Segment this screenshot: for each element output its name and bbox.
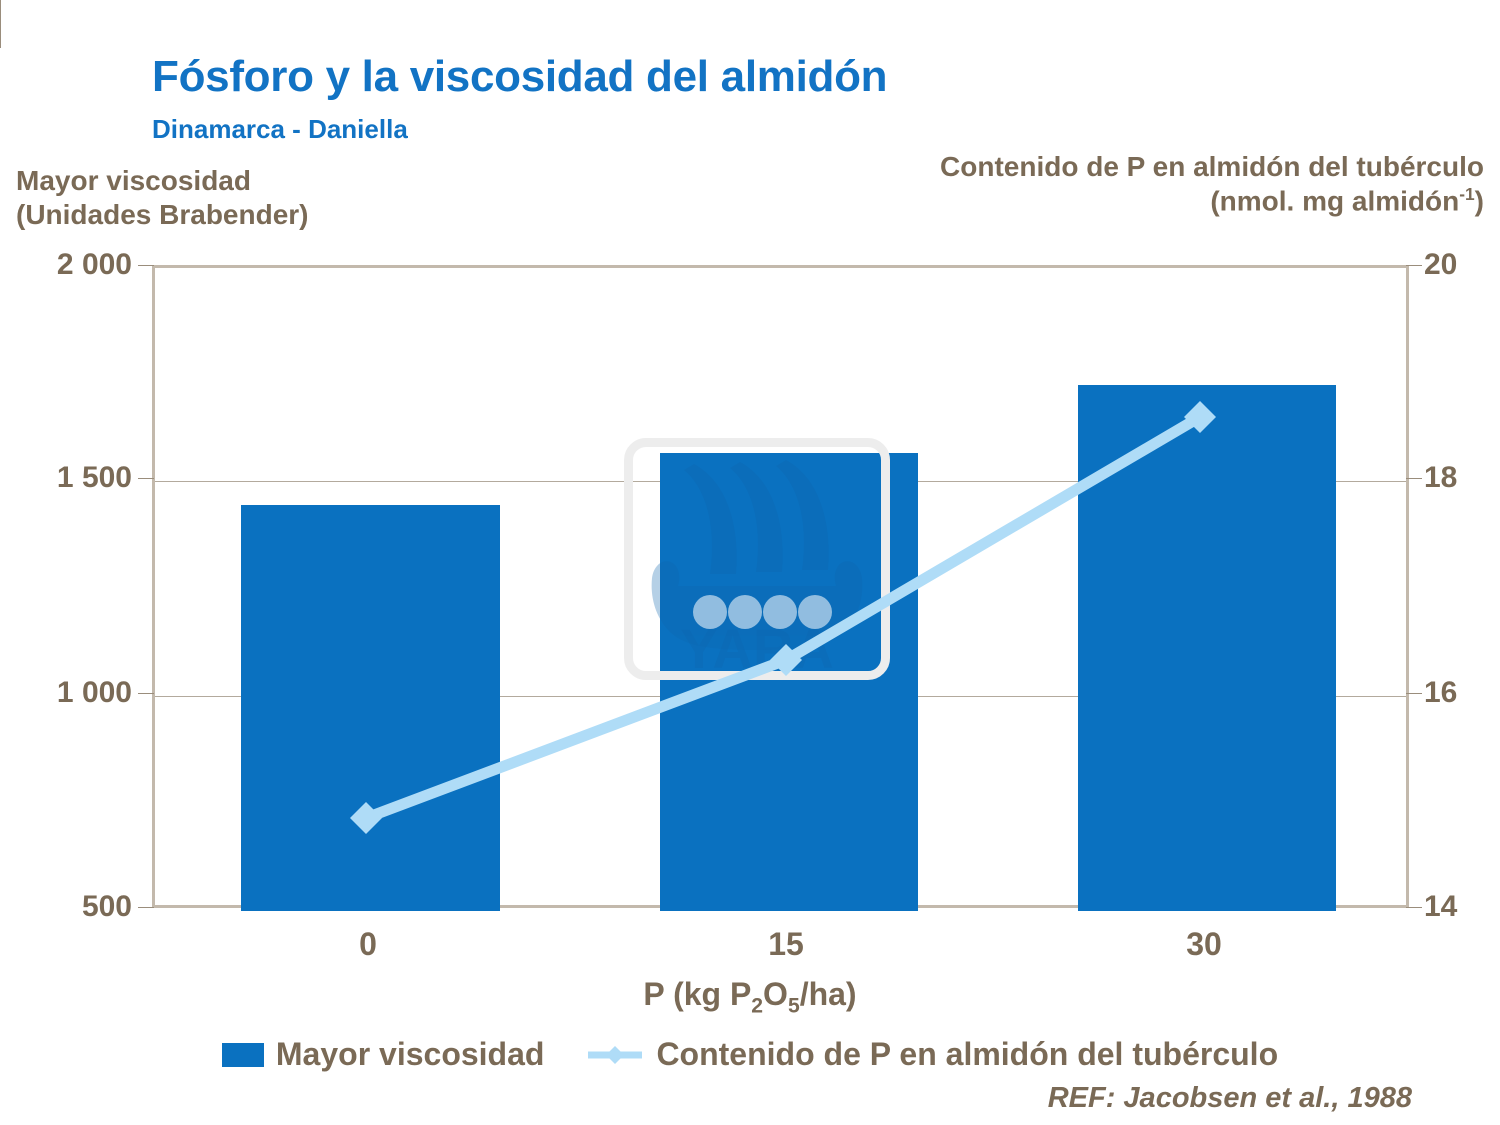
legend-label-line: Contenido de P en almidón del tubérculo <box>656 1036 1278 1073</box>
bar-15[interactable] <box>660 453 918 911</box>
ytick-left-500: 500 <box>82 892 132 922</box>
chart-figure: Fósforo y la viscosidad del almidón Dina… <box>0 0 1500 1125</box>
xtick-15: 15 <box>768 926 804 963</box>
x-axis-title-part1: P (kg P <box>643 976 751 1012</box>
x-axis-title-sub1: 2 <box>751 994 763 1017</box>
bar-0[interactable] <box>241 505 500 911</box>
reference-note: REF: Jacobsen et al., 1988 <box>1048 1082 1412 1115</box>
right-axis-units-prefix: (nmol. mg almidón <box>1210 185 1459 216</box>
right-axis-units-exponent: -1 <box>1459 184 1474 204</box>
bar-30[interactable] <box>1078 385 1336 911</box>
x-axis-title-part3: /ha) <box>800 976 857 1012</box>
ytick-right-16: 16 <box>1424 678 1457 708</box>
chart-legend: Mayor viscosidad Contenido de P en almid… <box>0 1036 1500 1073</box>
legend-item-bar[interactable]: Mayor viscosidad <box>222 1036 545 1073</box>
chart-subtitle: Dinamarca - Daniella <box>152 114 408 145</box>
left-axis-title-line2: (Unidades Brabender) <box>16 198 309 232</box>
left-axis-title-line1: Mayor viscosidad <box>16 164 309 198</box>
tick-left-1000 <box>138 693 154 694</box>
tick-x-divider-2 <box>0 24 1 48</box>
x-axis-title-sub2: 5 <box>788 994 800 1017</box>
x-axis-title: P (kg P2O5/ha) <box>0 976 1500 1018</box>
left-axis-title: Mayor viscosidad (Unidades Brabender) <box>16 164 309 232</box>
tick-right-18 <box>1406 478 1422 479</box>
ytick-right-18: 18 <box>1424 463 1457 493</box>
legend-swatch-line-icon <box>586 1044 644 1066</box>
right-axis-title-line2: (nmol. mg almidón-1) <box>940 184 1484 218</box>
tick-right-14 <box>1406 907 1422 908</box>
xtick-30: 30 <box>1186 926 1222 963</box>
plot-area <box>152 265 1409 908</box>
tick-right-16 <box>1406 693 1422 694</box>
ytick-left-1000: 1 000 <box>57 678 132 708</box>
ytick-right-14: 14 <box>1424 892 1457 922</box>
tick-left-500 <box>138 907 154 908</box>
legend-item-line[interactable]: Contenido de P en almidón del tubérculo <box>586 1036 1278 1073</box>
xtick-0: 0 <box>359 926 377 963</box>
right-axis-units-suffix: ) <box>1475 185 1484 216</box>
ytick-right-20: 20 <box>1424 250 1457 280</box>
tick-x-divider-1 <box>0 0 1 24</box>
legend-swatch-bar-icon <box>222 1043 264 1067</box>
tick-right-20 <box>1406 265 1422 266</box>
tick-left-2000 <box>138 265 154 266</box>
right-axis-title: Contenido de P en almidón del tubérculo … <box>940 150 1484 219</box>
right-axis-title-line1: Contenido de P en almidón del tubérculo <box>940 150 1484 184</box>
x-axis-title-part2: O <box>763 976 788 1012</box>
tick-left-1500 <box>138 478 154 479</box>
ytick-left-2000: 2 000 <box>57 250 132 280</box>
chart-title: Fósforo y la viscosidad del almidón <box>152 52 887 102</box>
ytick-left-1500: 1 500 <box>57 463 132 493</box>
legend-label-bar: Mayor viscosidad <box>276 1036 545 1073</box>
